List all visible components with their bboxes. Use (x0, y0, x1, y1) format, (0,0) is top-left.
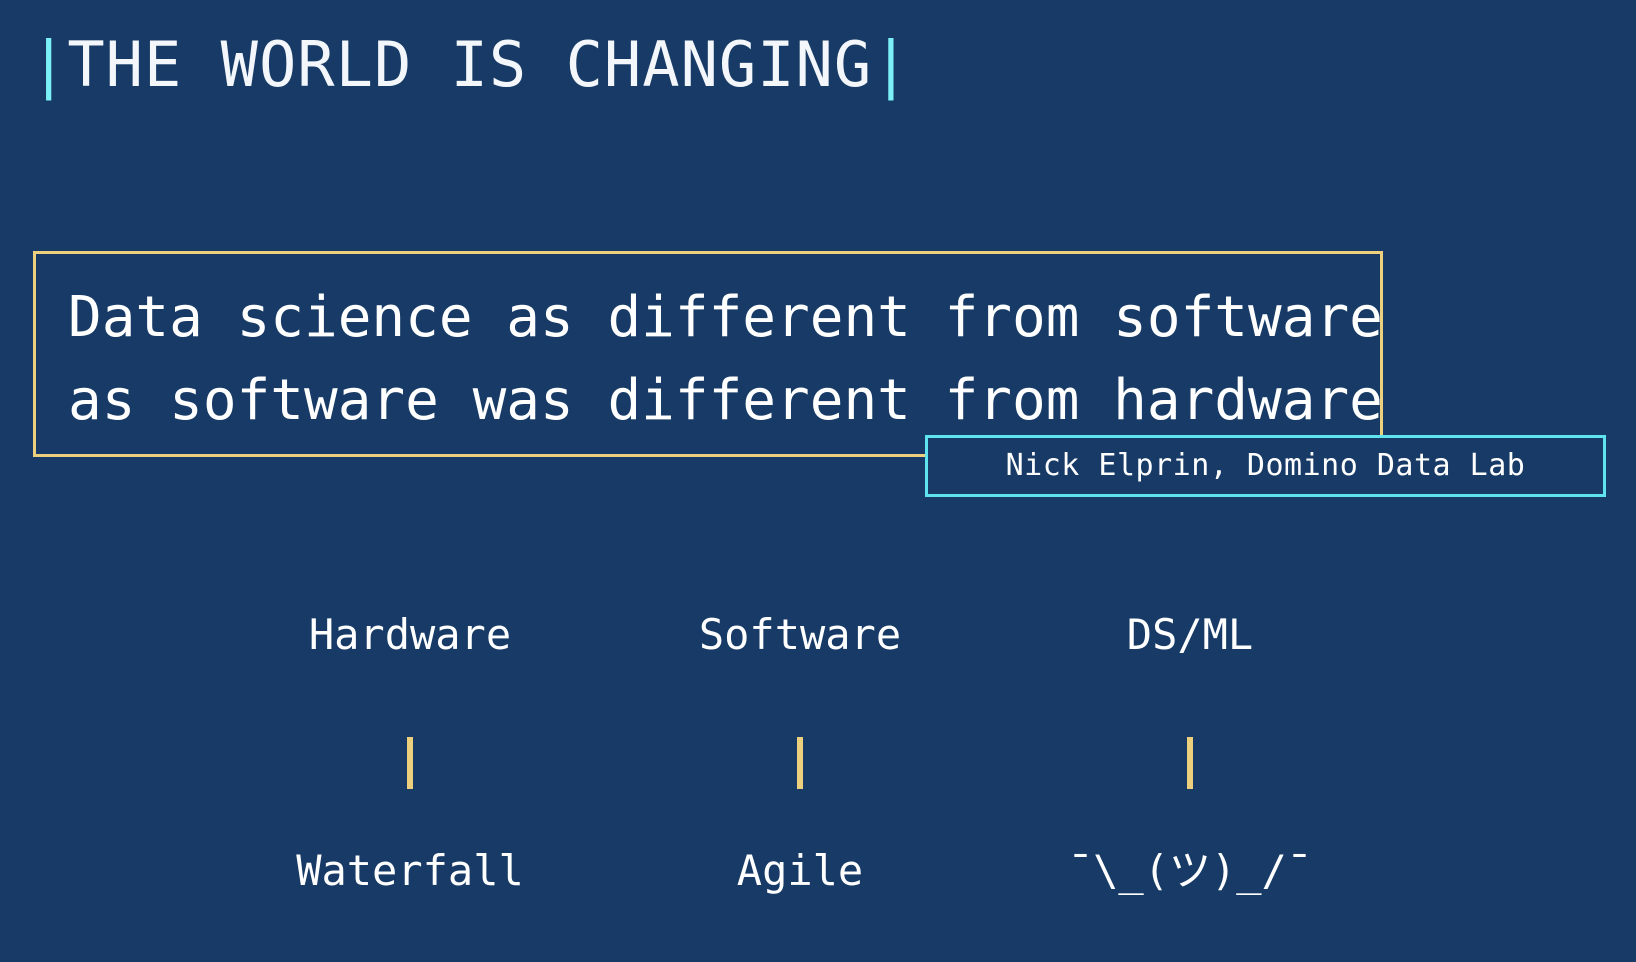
title-right-bracket: | (872, 34, 909, 96)
evolution-bottom-label: Waterfall (296, 847, 524, 895)
quote-box: Data science as different from software … (33, 251, 1383, 457)
evolution-top-label: Software (699, 612, 901, 658)
evolution-bottom-label: Agile (737, 847, 863, 895)
quote-line-1: Data science as different from software (68, 290, 1383, 346)
evolution-column-software: Software Agile (630, 612, 970, 895)
evolution-column-dsml: DS/ML ¯\_(ツ)_/¯ (1020, 612, 1360, 895)
evolution-top-label: DS/ML (1127, 612, 1253, 658)
attribution-text: Nick Elprin, Domino Data Lab (1006, 451, 1526, 481)
evolution-connector-bar (1187, 737, 1193, 789)
evolution-column-hardware: Hardware Waterfall (240, 612, 580, 895)
attribution-badge: Nick Elprin, Domino Data Lab (925, 435, 1606, 497)
evolution-bottom-label: ¯\_(ツ)_/¯ (1068, 847, 1312, 895)
page-title: | THE WORLD IS CHANGING | (30, 34, 910, 96)
evolution-connector-bar (407, 737, 413, 789)
slide-root: | THE WORLD IS CHANGING | Data science a… (0, 0, 1636, 962)
evolution-top-label: Hardware (309, 612, 511, 658)
title-left-bracket: | (30, 34, 67, 96)
evolution-connector-bar (797, 737, 803, 789)
quote-line-2: as software was different from hardware (68, 373, 1383, 429)
evolution-diagram: Hardware Waterfall Software Agile DS/ML … (0, 612, 1636, 902)
title-text: THE WORLD IS CHANGING (67, 34, 872, 96)
